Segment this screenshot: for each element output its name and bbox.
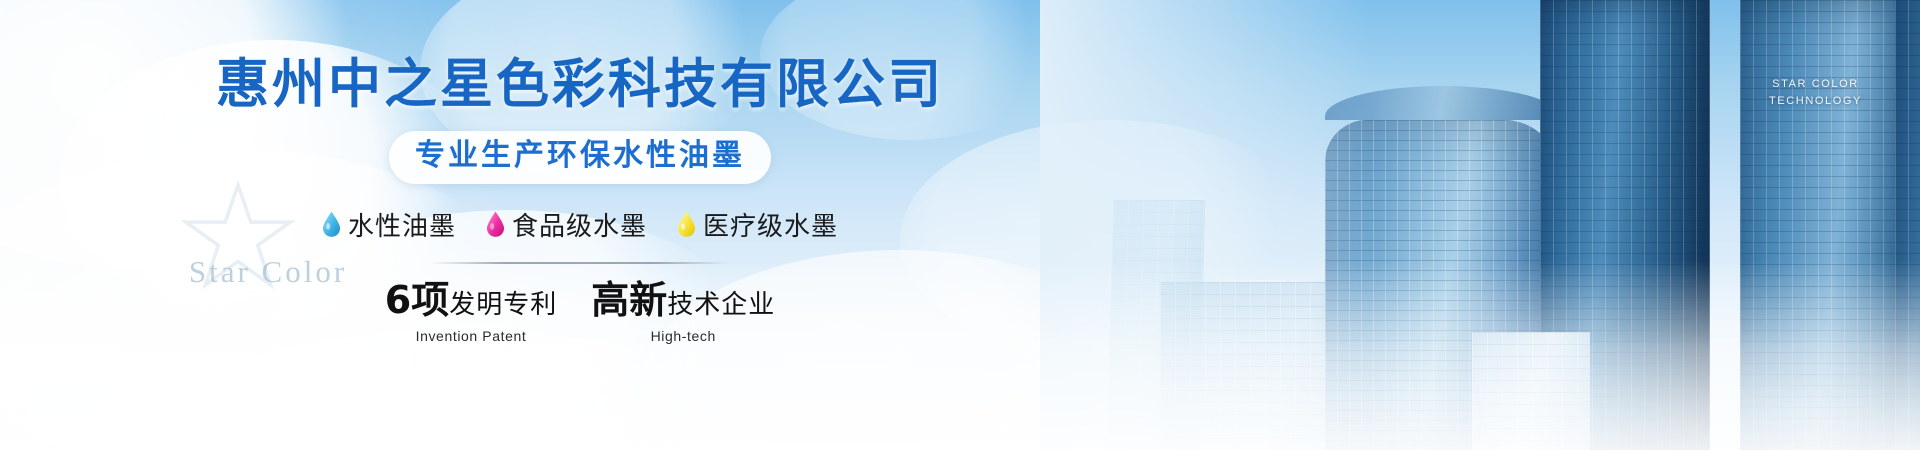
section-divider	[430, 262, 730, 264]
badge-item: 6项发明专利 Invention Patent	[385, 281, 557, 344]
badge-headline: 6项发明专利	[385, 281, 557, 319]
badge-headline: 高新技术企业	[591, 281, 775, 319]
feature-item: 水性油墨	[322, 206, 456, 243]
badge-text: 技术企业	[667, 290, 775, 320]
badge-number: 6项	[385, 278, 449, 322]
feature-label: 食品级水墨	[512, 206, 647, 243]
corner-brand-logo: STAR COLOR TECHNOLOGY	[1769, 76, 1862, 110]
badge-item: 高新技术企业 High-tech	[591, 281, 775, 344]
corner-logo-line1: STAR COLOR	[1769, 76, 1862, 93]
water-drop-icon	[322, 211, 341, 237]
feature-item: 医疗级水墨	[677, 206, 838, 243]
feature-item: 食品级水墨	[486, 206, 647, 243]
feature-list: 水性油墨 食品级水墨	[322, 206, 838, 243]
promo-banner: Star Color STAR COLOR TECHNOLOGY 惠州中之星色彩…	[0, 0, 1920, 450]
achievement-badges: 6项发明专利 Invention Patent 高新技术企业 High-tech	[385, 281, 776, 344]
building-right-tower	[1740, 0, 1920, 450]
badge-english-label: High-tech	[591, 328, 775, 344]
water-drop-icon	[677, 211, 696, 237]
badge-text: 发明专利	[449, 290, 557, 320]
building-curved-crown	[1325, 86, 1560, 120]
corner-logo-line2: TECHNOLOGY	[1769, 93, 1862, 110]
badge-number: 高新	[591, 278, 667, 322]
feature-label: 医疗级水墨	[703, 206, 838, 243]
company-title: 惠州中之星色彩科技有限公司	[216, 58, 944, 111]
water-drop-icon	[486, 211, 505, 237]
building-foreground-block	[1472, 332, 1590, 450]
city-skyline-image	[1040, 0, 1920, 450]
building-edge-sliver	[1895, 0, 1920, 450]
banner-content: 惠州中之星色彩科技有限公司 专业生产环保水性油墨 水性油墨	[0, 0, 1160, 450]
tagline-pill: 专业生产环保水性油墨	[389, 131, 771, 184]
badge-english-label: Invention Patent	[385, 328, 557, 344]
tagline-text: 专业生产环保水性油墨	[415, 139, 745, 174]
feature-label: 水性油墨	[348, 206, 456, 243]
